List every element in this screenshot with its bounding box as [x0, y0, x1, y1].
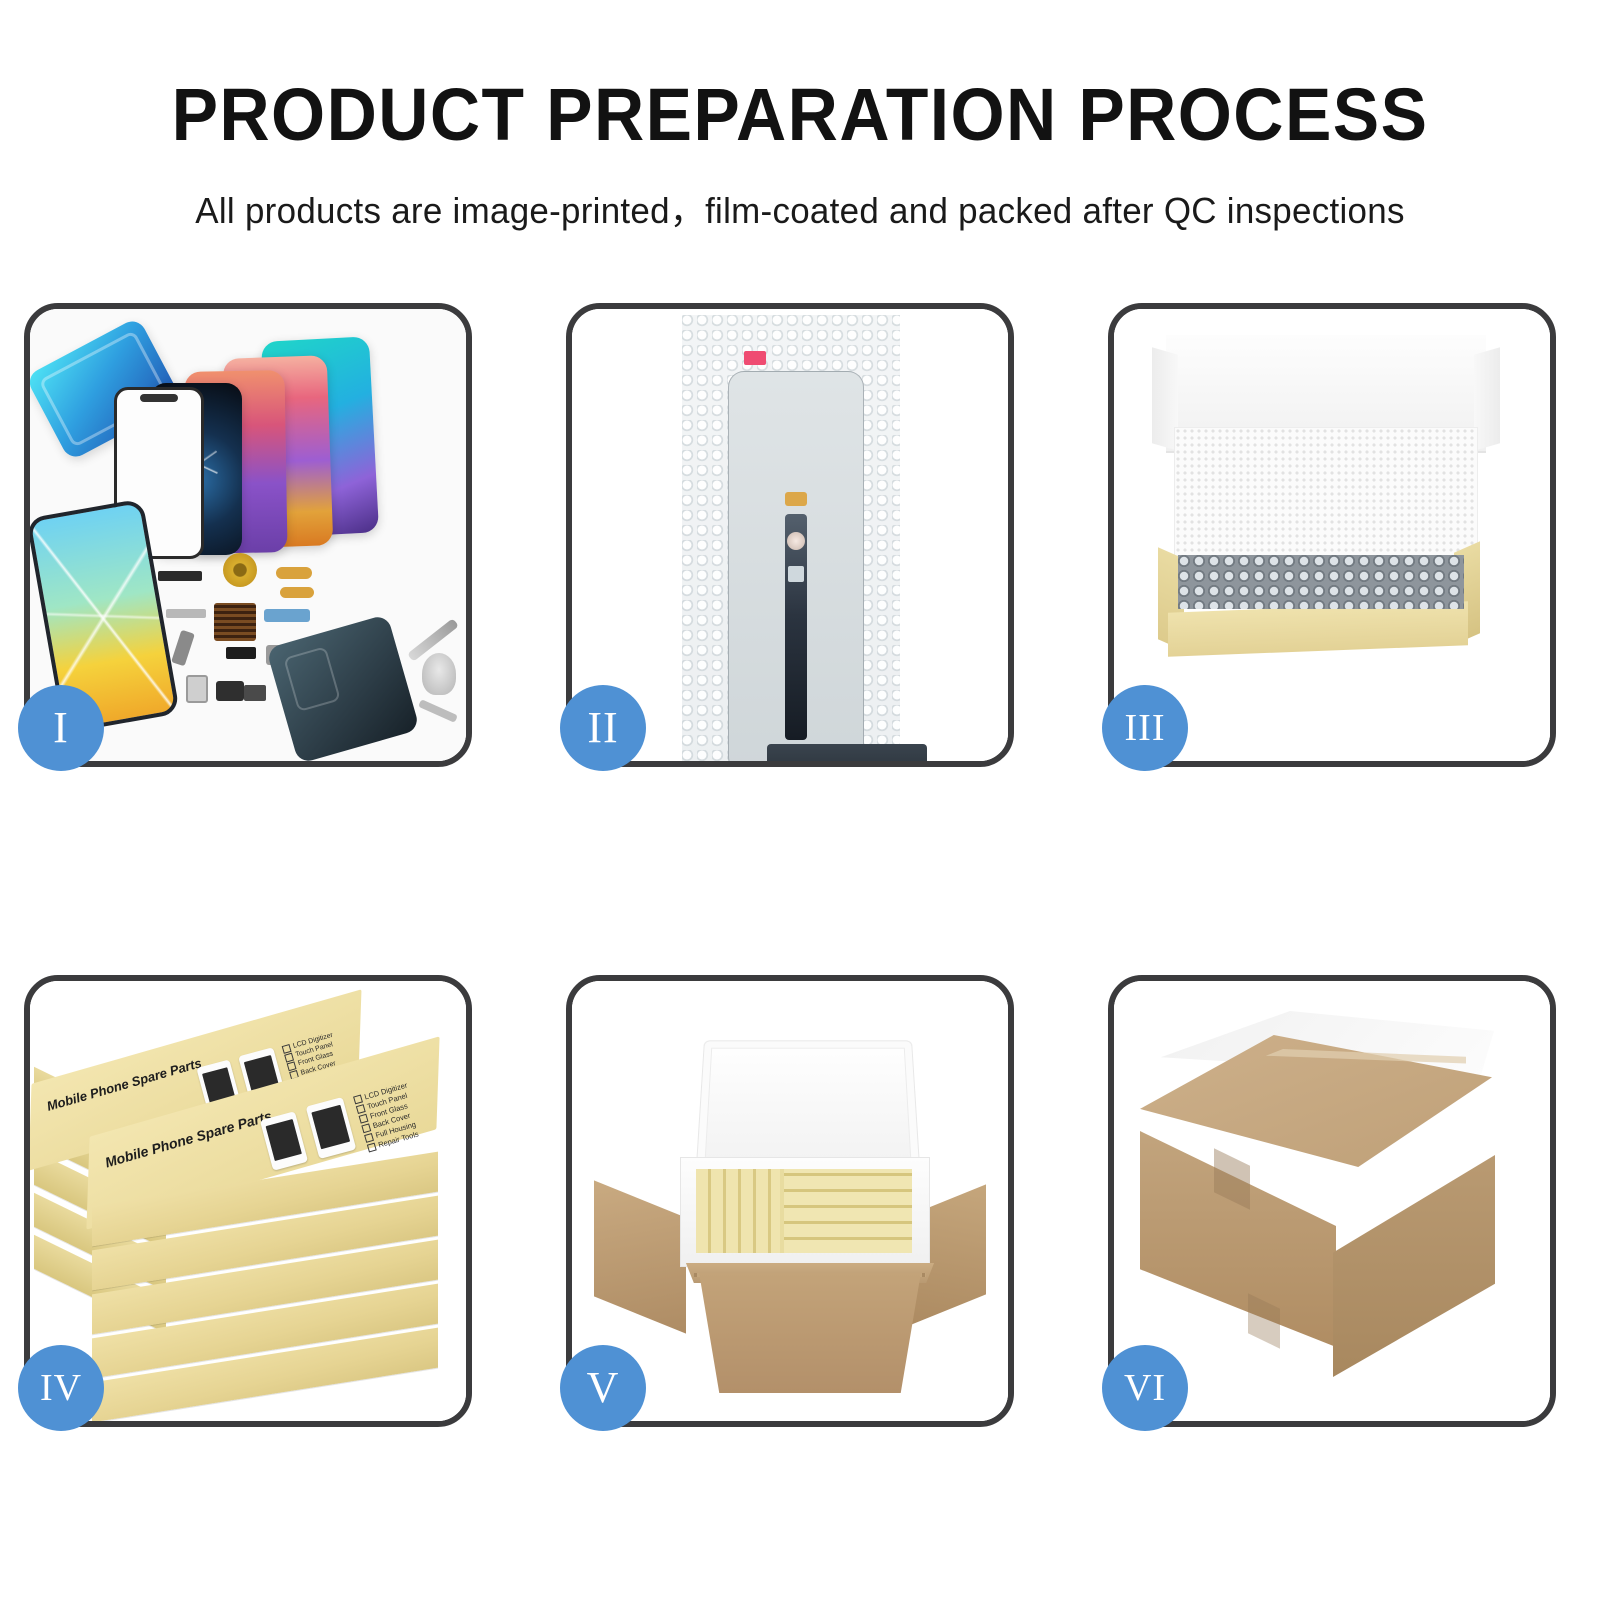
screwdriver-graphic [418, 699, 458, 723]
brush-graphic [422, 653, 456, 695]
black-module-graphic [226, 647, 256, 659]
pink-qc-label-graphic [744, 351, 766, 365]
carton-with-foam-box-photo [572, 981, 1008, 1421]
panel-3-image [1114, 309, 1550, 761]
checkbox-icon [367, 1143, 377, 1153]
step-badge-5: V [560, 1345, 646, 1431]
notch-graphic [140, 394, 178, 402]
panel-2-image [572, 309, 1008, 761]
step-badge-4: IV [18, 1345, 104, 1431]
wireless-coil-graphic [223, 553, 257, 587]
panel-1-image [30, 309, 466, 761]
carton-right-face-graphic [1333, 1155, 1495, 1377]
tray-front-graphic [1168, 601, 1468, 657]
front-camera-graphic [787, 532, 805, 550]
step-badge-3: III [1102, 685, 1188, 771]
panel-5-image [572, 981, 1008, 1421]
silver-bracket-graphic [171, 630, 195, 667]
back-housing-graphic [266, 614, 420, 761]
sim-tray-graphic [186, 675, 208, 703]
phone-parts-photo [30, 309, 466, 761]
small-part-graphic [166, 609, 206, 618]
taptic-graphic [244, 685, 266, 701]
step-badge-2: II [560, 685, 646, 771]
flex-cable-graphic [158, 571, 202, 581]
ic-chip-graphic [214, 603, 256, 641]
step-badge-6: VI [1102, 1345, 1188, 1431]
process-steps-grid: I I [0, 0, 1600, 1600]
bottom-flex-block-graphic [767, 744, 927, 761]
gold-connector-2-graphic [280, 587, 314, 598]
foam-sheet-graphic [1174, 427, 1478, 559]
blue-flex-graphic [264, 609, 310, 622]
bubble-wrap-bag-graphic [682, 315, 900, 761]
grey-bubble-wrap-graphic [1178, 555, 1464, 609]
styrofoam-lid-graphic [696, 1040, 921, 1170]
process-step-panel-6: VI [1108, 975, 1556, 1427]
process-step-panel-2: II [566, 303, 1014, 767]
carton-body-graphic [684, 1273, 936, 1393]
process-step-panel-3: III [1108, 303, 1556, 767]
gold-connector-graphic [276, 567, 312, 579]
panel-6-image [1114, 981, 1550, 1421]
packed-retail-boxes-graphic [696, 1169, 912, 1253]
sealed-carton-photo [1114, 981, 1550, 1421]
screen-assembly-graphic [728, 371, 864, 761]
gold-tab-1-graphic [785, 492, 807, 506]
flex-spine-graphic [785, 514, 807, 740]
bubble-wrapped-screen-photo [572, 309, 1008, 761]
panel-4-image: Mobile Phone Spare Parts LCD Digitizer T… [30, 981, 466, 1421]
process-step-panel-5: V [566, 975, 1014, 1427]
connector-graphic [788, 566, 804, 582]
step-badge-1: I [18, 685, 104, 771]
stacked-retail-boxes-photo: Mobile Phone Spare Parts LCD Digitizer T… [30, 981, 466, 1421]
process-step-panel-4: Mobile Phone Spare Parts LCD Digitizer T… [24, 975, 472, 1427]
open-mailer-box-photo [1114, 309, 1550, 761]
camera-module-graphic [216, 681, 244, 701]
carton-left-flap-graphic [594, 1180, 686, 1333]
process-step-panel-1: I [24, 303, 472, 767]
